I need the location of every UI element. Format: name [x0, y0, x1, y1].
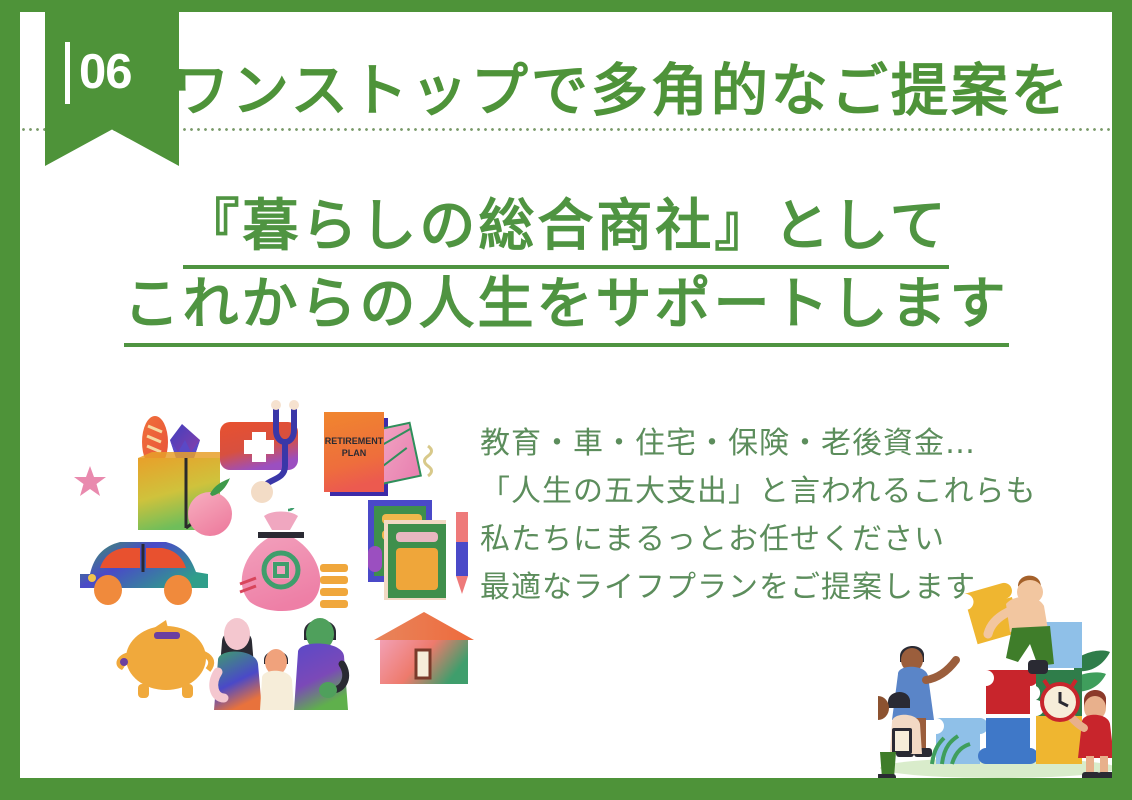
slide: 06 ワンストップで多角的なご提案を 『暮らしの総合商社』として これからの人生…	[0, 0, 1132, 800]
coins-icon	[320, 564, 348, 608]
first-aid-kit-illustration	[216, 400, 328, 504]
piggy-bank-illustration	[108, 614, 216, 704]
retirement-label-line-1: RETIREMENT	[325, 436, 384, 446]
ribbon-accent-bar	[65, 42, 70, 104]
money-bag-illustration	[228, 508, 350, 614]
books-illustration	[364, 494, 476, 610]
main-title-line-1: 『暮らしの総合商社』として	[20, 188, 1112, 266]
pencil-icon	[456, 512, 468, 594]
body-line-2: 「人生の五大支出」と言われるこれらも	[480, 468, 1080, 516]
main-title-line-1-text: 『暮らしの総合商社』として	[183, 194, 948, 269]
body-line-1: 教育・車・住宅・保険・老後資金…	[480, 420, 1080, 468]
puzzle-teamwork-illustration	[878, 552, 1112, 778]
section-number-ribbon: 06	[45, 12, 179, 166]
section-headline: ワンストップで多角的なご提案を	[172, 48, 1112, 134]
main-title: 『暮らしの総合商社』として これからの人生をサポートします	[20, 188, 1112, 344]
house-illustration	[372, 610, 476, 690]
car-illustration	[74, 522, 214, 608]
star-icon	[72, 464, 108, 500]
alarm-clock-icon	[1042, 680, 1078, 720]
retirement-label-line-2: PLAN	[342, 448, 367, 458]
family-illustration	[208, 606, 360, 714]
main-title-line-2-text: これからの人生をサポートします	[124, 272, 1009, 347]
slide-canvas: 06 ワンストップで多角的なご提案を 『暮らしの総合商社』として これからの人生…	[20, 12, 1112, 778]
main-title-line-2: これからの人生をサポートします	[20, 266, 1112, 344]
section-number: 06	[79, 36, 179, 108]
